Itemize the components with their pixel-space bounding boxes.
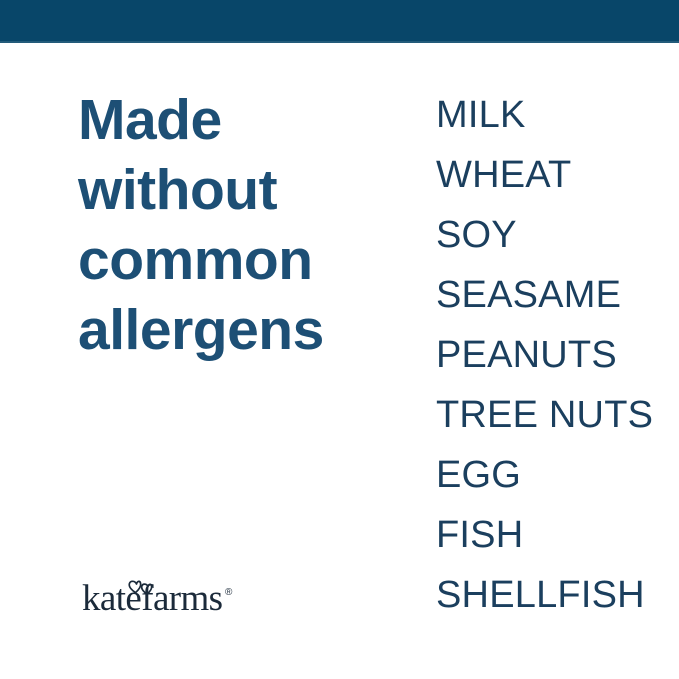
svg-text:katefarms: katefarms (82, 578, 223, 618)
top-navy-band (0, 0, 679, 43)
list-item: FISH (436, 515, 666, 575)
left-column: Made without common allergens katefarms … (78, 43, 398, 679)
list-item: EGG (436, 455, 666, 515)
content-area: Made without common allergens katefarms … (0, 43, 679, 679)
svg-text:®: ® (225, 587, 233, 598)
katefarms-wordmark: katefarms ® (82, 578, 233, 618)
allergen-list: MILK WHEAT SOY SEASAME PEANUTS TREE NUTS… (436, 95, 666, 635)
list-item: SEASAME (436, 275, 666, 335)
brand-logo: katefarms ® (82, 568, 242, 618)
katefarms-logo-svg: katefarms ® (82, 568, 242, 618)
list-item: SHELLFISH (436, 575, 666, 635)
right-column: MILK WHEAT SOY SEASAME PEANUTS TREE NUTS… (436, 43, 666, 679)
list-item: PEANUTS (436, 335, 666, 395)
list-item: MILK (436, 95, 666, 155)
list-item: SOY (436, 215, 666, 275)
allergen-infographic: Made without common allergens katefarms … (0, 0, 679, 679)
page-title: Made without common allergens (78, 85, 378, 365)
list-item: TREE NUTS (436, 395, 666, 455)
list-item: WHEAT (436, 155, 666, 215)
